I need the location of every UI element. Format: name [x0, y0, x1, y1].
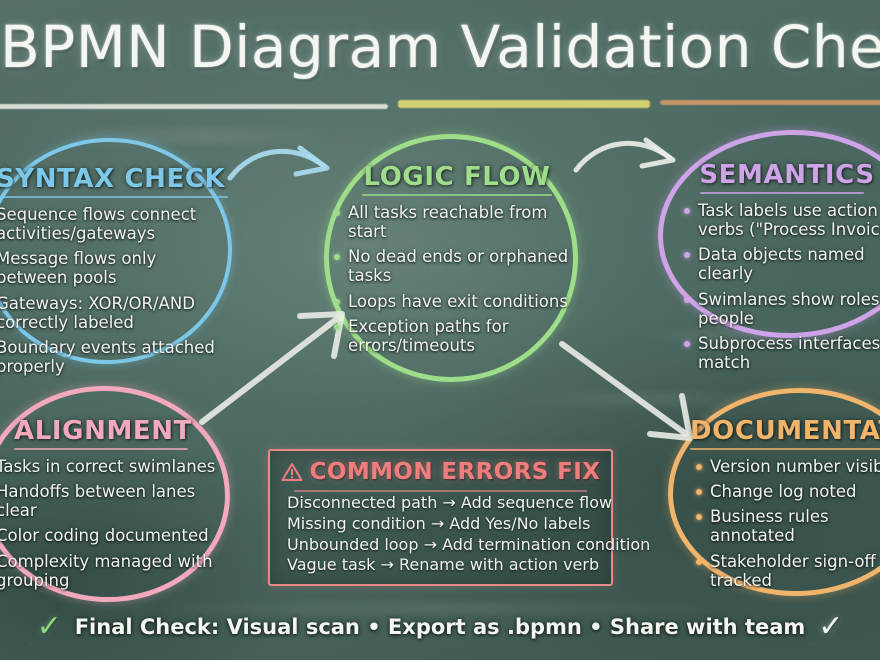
list-item: Sequence flows connect activities/gatewa… — [0, 205, 228, 243]
section-heading-text: DOCUMENTATION — [690, 416, 880, 446]
heading-underline — [0, 196, 228, 198]
common-errors-fix-box: COMMON ERRORS FIX Disconnected path → Ad… — [268, 449, 613, 586]
chalkboard-canvas: BPMN Diagram Validation Checklist SYNTAX… — [0, 0, 880, 660]
section-heading-text: LOGIC FLOW — [363, 162, 550, 192]
errors-box-heading-text: COMMON ERRORS FIX — [310, 459, 601, 485]
section-syntax-check: SYNTAX CHECK Sequence flows connect acti… — [0, 164, 228, 382]
section-heading-text: SYNTAX CHECK — [0, 164, 225, 194]
page-title: BPMN Diagram Validation Checklist — [0, 18, 880, 76]
list-item: Subprocess interfaces match — [684, 334, 880, 372]
list-item: Vague task → Rename with action verb — [287, 555, 611, 576]
list-item: No dead ends or orphaned tasks — [334, 247, 574, 285]
footer-text: Final Check: Visual scan • Export as .bp… — [75, 615, 806, 639]
errors-box-heading: COMMON ERRORS FIX — [270, 459, 611, 485]
checklist-semantics: Task labels use action verbs ("Process I… — [684, 201, 880, 372]
checklist-alignment: Tasks in correct swimlanes Handoffs betw… — [0, 457, 216, 590]
heading-underline — [700, 192, 864, 194]
section-heading-logic-flow: LOGIC FLOW — [334, 162, 574, 196]
list-item: Business rules annotated — [696, 507, 880, 545]
heading-underline — [690, 448, 880, 450]
title-underline-yellow — [398, 100, 650, 108]
chalk-smear — [520, 392, 780, 406]
errors-heading-underline — [294, 490, 587, 492]
chalk-smear — [40, 128, 340, 144]
heading-underline — [362, 194, 552, 196]
list-item: Tasks in correct swimlanes — [0, 457, 216, 476]
list-item: Handoffs between lanes clear — [0, 482, 216, 520]
title-underline-white — [0, 104, 388, 109]
section-heading-semantics: SEMANTICS — [684, 160, 880, 194]
heading-underline — [14, 448, 188, 450]
list-item: Data objects named clearly — [684, 245, 880, 283]
section-alignment: ALIGNMENT Tasks in correct swimlanes Han… — [0, 416, 216, 596]
list-item: Loops have exit conditions — [334, 292, 574, 311]
checklist-documentation: Version number visible Change log noted … — [690, 457, 880, 590]
list-item: All tasks reachable from start — [334, 203, 574, 241]
section-heading-text: ALIGNMENT — [14, 416, 192, 446]
arrow-syntax-to-logic — [228, 138, 338, 208]
list-item: Color coding documented — [0, 526, 216, 545]
section-heading-text: SEMANTICS — [699, 160, 874, 190]
warning-triangle-icon — [281, 462, 303, 482]
list-item: Swimlanes show roles not people — [684, 290, 880, 328]
list-item: Missing condition → Add Yes/No labels — [287, 514, 611, 535]
list-item: Message flows only between pools — [0, 249, 228, 287]
footer-final-check: ✓ Final Check: Visual scan • Export as .… — [0, 612, 880, 642]
checklist-logic-flow: All tasks reachable from start No dead e… — [334, 203, 574, 355]
list-item: Disconnected path → Add sequence flow — [287, 493, 611, 514]
list-item: Unbounded loop → Add termination conditi… — [287, 535, 611, 556]
list-item: Gateways: XOR/OR/AND correctly labeled — [0, 294, 228, 332]
list-item: Complexity managed with grouping — [0, 552, 216, 590]
section-heading-documentation: DOCUMENTATION — [690, 416, 880, 450]
section-documentation: DOCUMENTATION Version number visible Cha… — [690, 416, 880, 596]
list-item: Exception paths for errors/timeouts — [334, 317, 574, 355]
check-icon-left: ✓ — [37, 612, 62, 642]
list-item: Boundary events attached properly — [0, 338, 228, 376]
section-logic-flow: LOGIC FLOW All tasks reachable from star… — [334, 162, 574, 361]
section-heading-alignment: ALIGNMENT — [0, 416, 216, 450]
list-item: Task labels use action verbs ("Process I… — [684, 201, 880, 239]
arrow-logic-to-semantics — [574, 132, 684, 202]
title-underline-orange — [660, 100, 880, 105]
list-item: Version number visible — [696, 457, 880, 476]
section-heading-syntax-check: SYNTAX CHECK — [0, 164, 228, 198]
list-item: Change log noted — [696, 482, 880, 501]
check-icon-right: ✓ — [818, 612, 843, 642]
checklist-syntax-check: Sequence flows connect activities/gatewa… — [0, 205, 228, 376]
errors-fix-list: Disconnected path → Add sequence flow Mi… — [270, 493, 611, 576]
list-item: Stakeholder sign-off tracked — [696, 552, 880, 590]
section-semantics: SEMANTICS Task labels use action verbs (… — [684, 160, 880, 378]
